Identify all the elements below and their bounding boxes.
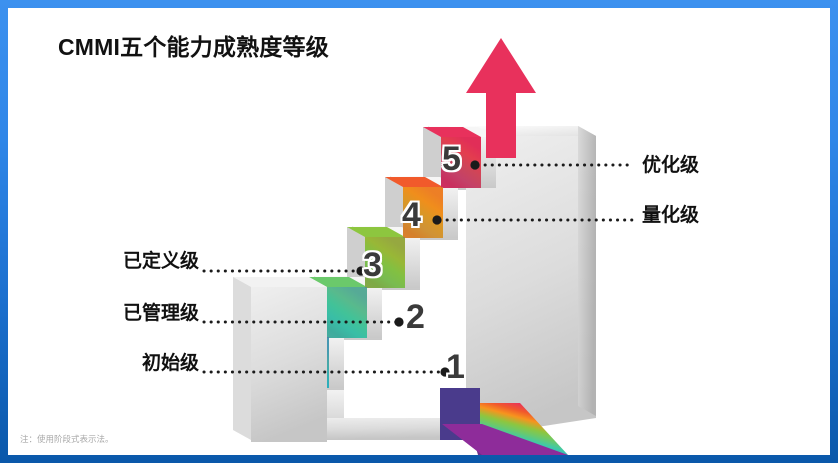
callout-label-initial: 初始级	[142, 348, 199, 375]
slide-content-area: CMMI五个能力成熟度等级	[8, 8, 830, 455]
callout-label-quantitatively-managed: 量化级	[642, 200, 699, 227]
step-number-1: 1	[446, 348, 465, 387]
step-number-5: 5	[442, 140, 461, 179]
connector-dot-4	[432, 215, 441, 224]
step-number-3: 3	[363, 246, 382, 285]
step-number-2: 2	[406, 298, 425, 337]
slide-canvas: CMMI五个能力成熟度等级	[0, 0, 838, 463]
step-number-4: 4	[402, 196, 421, 235]
connector-dot-2	[394, 317, 403, 326]
connector-dot-5	[470, 160, 479, 169]
callout-label-managed: 已管理级	[123, 298, 199, 325]
callout-label-defined: 已定义级	[123, 246, 199, 273]
footnote-text: 注：使用阶段式表示法。	[20, 433, 114, 445]
callout-label-optimizing: 优化级	[642, 150, 699, 177]
